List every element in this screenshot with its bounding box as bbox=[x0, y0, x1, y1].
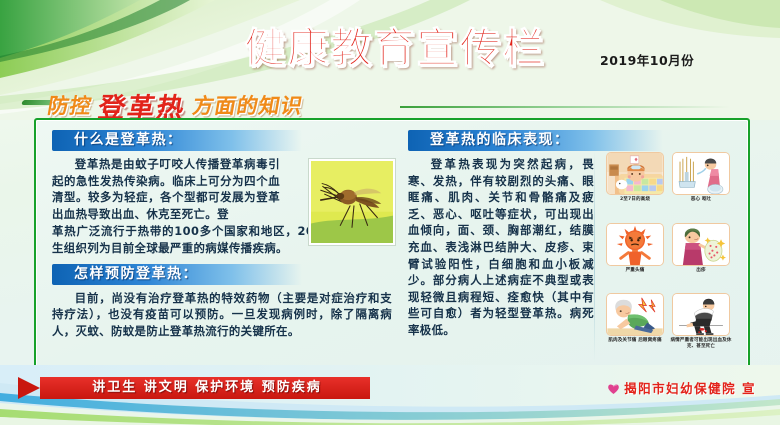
clinical-manifestation-text: 登革热表现为突然起病，畏寒、发热，伴有较剧烈的头痛、眼眶痛、肌肉、关节和骨骼痛及… bbox=[408, 156, 594, 339]
section-header-what-is-dengue: 什么是登革热： bbox=[52, 130, 398, 151]
symptom-illustration-grid: 2至7日的高烧 bbox=[604, 152, 728, 360]
section-header-prevention: 怎样预防登革热： bbox=[52, 264, 398, 285]
mosquito-illustration bbox=[311, 161, 393, 243]
left-column: 什么是登革热： bbox=[52, 130, 398, 362]
subtitle-prefix: 防控 bbox=[45, 90, 94, 120]
skin-rash-icon bbox=[672, 223, 730, 266]
subtitle-rule bbox=[400, 106, 730, 108]
symptom-caption: 病情严重者可能出现出血及休克、甚至死亡 bbox=[670, 338, 732, 350]
symptom-item: 2至7日的高烧 bbox=[604, 152, 666, 219]
what-is-dengue-body: 登革热是由蚊子叮咬人传播登革病毒引起的急性发热传染病。临床上可分为四个血清型。较… bbox=[52, 156, 398, 257]
column-divider bbox=[594, 150, 595, 362]
muscle-joint-pain-graphic bbox=[607, 294, 663, 335]
organization-credit: 揭阳市妇幼保健院 宣 bbox=[607, 378, 756, 397]
skin-rash-graphic bbox=[673, 224, 729, 265]
issue-date: 2019年10月份 bbox=[600, 50, 694, 69]
subtitle-suffix: 方面的知识 bbox=[190, 90, 305, 120]
heart-ribbon-glyph bbox=[607, 382, 620, 395]
symptom-caption: 严重头痛 bbox=[604, 268, 666, 274]
symptom-caption: 肌肉及关节痛 后眼窝疼痛 bbox=[604, 338, 666, 344]
section-header-label: 登革热的临床表现： bbox=[430, 131, 570, 150]
vomiting-icon bbox=[672, 152, 730, 195]
section-header-label: 什么是登革热： bbox=[74, 131, 183, 150]
severe-headache-graphic bbox=[607, 224, 663, 265]
prevention-text: 目前，尚没有治疗登革热的特效药物（主要是对症治疗和支持疗法），也没有疫苗可以预防… bbox=[52, 290, 392, 340]
organization-name: 揭阳市妇幼保健院 宣 bbox=[624, 381, 756, 396]
symptom-item: 肌肉及关节痛 后眼窝疼痛 bbox=[604, 293, 666, 360]
poster-subtitle: 防控 登革热 方面的知识 bbox=[45, 88, 451, 122]
symptom-item: 恶心 呕吐 bbox=[670, 152, 732, 219]
content-board: 什么是登革热： bbox=[34, 118, 750, 374]
heart-ribbon-icon bbox=[607, 382, 620, 395]
what-is-dengue-text-part1: 登革热是由蚊子叮咬人传播登革病毒引起的急性发热传染病。临床上可分为四个血清型。较… bbox=[52, 156, 280, 222]
poster-footer: 讲卫生 讲文明 保护环境 预防疾病 揭阳市妇幼保健院 宣 bbox=[0, 373, 780, 425]
section-header-label: 怎样预防登革热： bbox=[74, 265, 198, 284]
fever-in-bed-graphic bbox=[607, 153, 663, 194]
symptom-caption: 2至7日的高烧 bbox=[604, 197, 666, 203]
section-header-clinical-manifestation: 登革热的临床表现： bbox=[408, 130, 732, 151]
symptom-item: 出疹 bbox=[670, 223, 732, 290]
health-education-poster: 健康教育宣传栏 2019年10月份 防控 登革热 方面的知识 什么是登革热： bbox=[0, 0, 780, 425]
page-title: 健康教育宣传栏 bbox=[200, 24, 590, 72]
symptom-caption: 恶心 呕吐 bbox=[670, 197, 732, 203]
footer-slogan: 讲卫生 讲文明 保护环境 预防疾病 bbox=[44, 377, 370, 399]
severe-headache-icon bbox=[606, 223, 664, 266]
symptom-item: 严重头痛 bbox=[604, 223, 666, 290]
symptom-caption: 出疹 bbox=[670, 268, 732, 274]
fever-in-bed-icon bbox=[606, 152, 664, 195]
muscle-joint-pain-icon bbox=[606, 293, 664, 336]
bleeding-shock-icon bbox=[672, 293, 730, 336]
vomiting-graphic bbox=[673, 153, 729, 194]
symptom-item: 病情严重者可能出现出血及休克、甚至死亡 bbox=[670, 293, 732, 360]
bleeding-shock-graphic bbox=[673, 294, 729, 335]
mosquito-photo-image bbox=[311, 161, 393, 243]
mosquito-photo bbox=[308, 158, 396, 246]
right-column: 登革热的临床表现： 登革热表现为突然起病，畏寒、发热，伴有较剧烈的头痛、眼眶痛、… bbox=[408, 130, 732, 362]
